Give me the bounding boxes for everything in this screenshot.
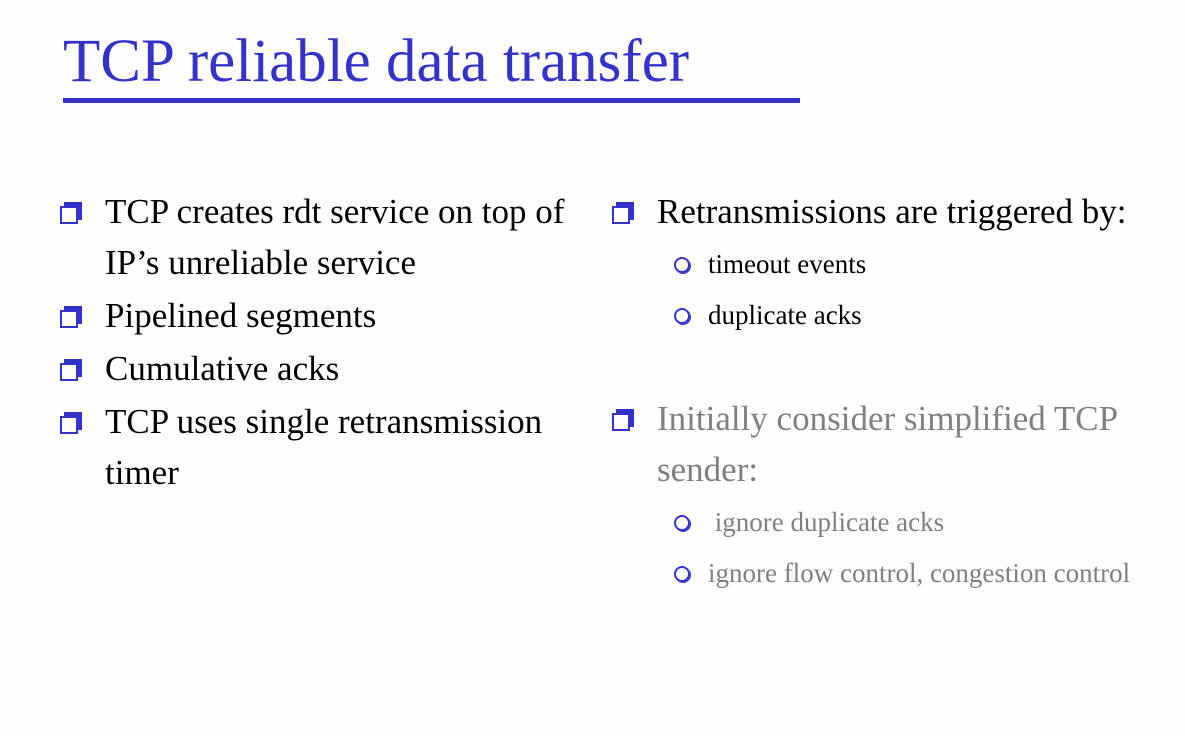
bullet-item: Retransmissions are triggered by: (612, 186, 1172, 237)
title-block: TCP reliable data transfer (63, 28, 823, 103)
square-box-bullet-icon (612, 202, 634, 222)
section-spacer (612, 341, 1172, 393)
bullet-item: Cumulative acks (60, 343, 590, 394)
sub-bullet-item: ignore duplicate acks (674, 497, 1172, 548)
bullet-text: timeout events (708, 239, 1172, 290)
bullet-text: TCP creates rdt service on top of IP’s u… (105, 186, 590, 288)
hollow-circle-bullet-icon (674, 257, 690, 273)
sub-bullet-item: duplicate acks (674, 290, 1172, 341)
bullet-item: TCP uses single retransmission timer (60, 396, 590, 498)
bullet-text: Cumulative acks (105, 343, 590, 394)
square-box-bullet-icon (60, 202, 82, 222)
bullet-item: Pipelined segments (60, 290, 590, 341)
bullet-item: TCP creates rdt service on top of IP’s u… (60, 186, 590, 288)
bullet-item: Initially consider simplified TCP sender… (612, 393, 1172, 495)
sub-bullet-item: timeout events (674, 239, 1172, 290)
slide-canvas: TCP reliable data transfer TCP creates r… (0, 0, 1185, 736)
bullet-text: TCP uses single retransmission timer (105, 396, 590, 498)
right-content-column: Retransmissions are triggered by: timeou… (612, 186, 1172, 599)
square-box-bullet-icon (612, 409, 634, 429)
hollow-circle-bullet-icon (674, 308, 690, 324)
left-content-column: TCP creates rdt service on top of IP’s u… (60, 186, 590, 500)
bullet-text: Pipelined segments (105, 290, 590, 341)
square-box-bullet-icon (60, 412, 82, 432)
bullet-text: ignore duplicate acks (708, 497, 1172, 548)
hollow-circle-bullet-icon (674, 566, 690, 582)
bullet-text: Retransmissions are triggered by: (657, 186, 1172, 237)
sub-bullet-item: ignore flow control, congestion control (674, 548, 1172, 599)
hollow-circle-bullet-icon (674, 515, 690, 531)
page-title: TCP reliable data transfer (63, 28, 823, 96)
square-box-bullet-icon (60, 306, 82, 326)
bullet-text: duplicate acks (708, 290, 1172, 341)
square-box-bullet-icon (60, 359, 82, 379)
bullet-text: ignore flow control, congestion control (708, 548, 1172, 599)
title-underline-rule (63, 98, 800, 103)
bullet-text: Initially consider simplified TCP sender… (657, 393, 1172, 495)
